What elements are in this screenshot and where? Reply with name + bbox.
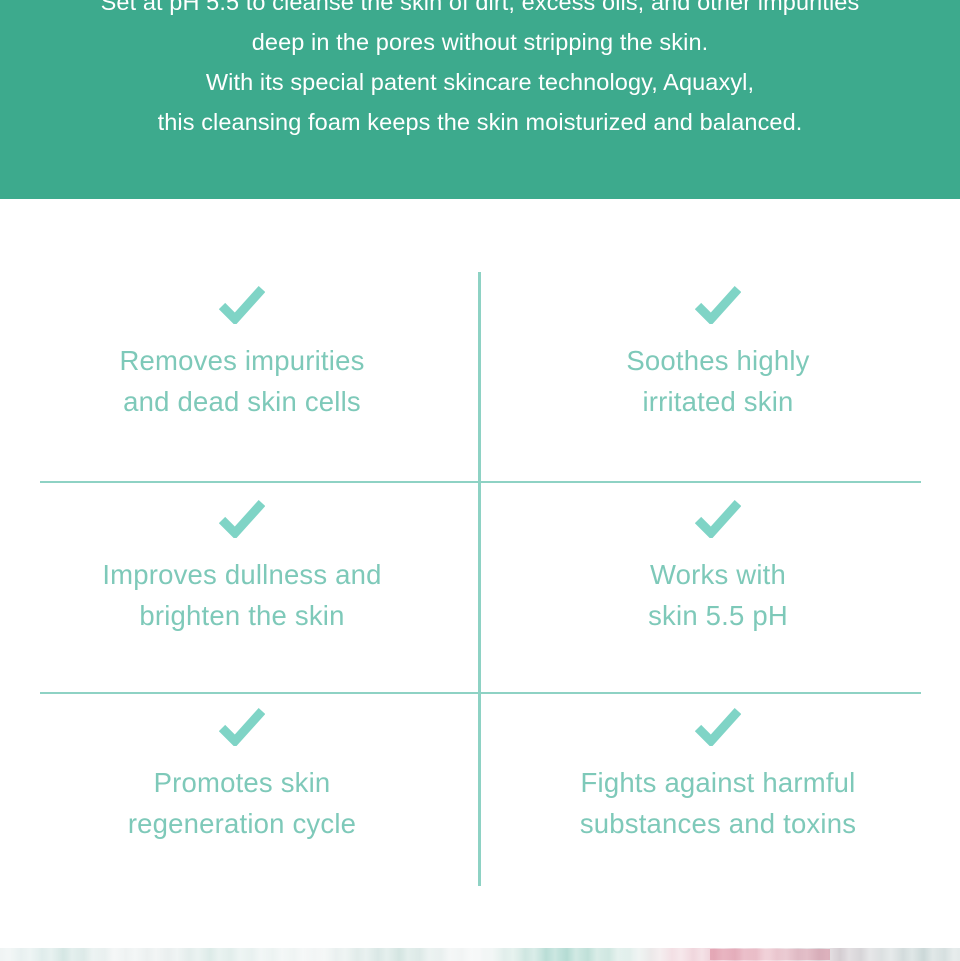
benefit-cell-soothes-irritated-skin: Soothes highly irritated skin <box>498 284 938 422</box>
benefit-label: Soothes highly irritated skin <box>498 340 938 422</box>
benefit-cell-improves-dullness: Improves dullness and brighten the skin <box>22 498 462 636</box>
benefit-label: Works with skin 5.5 pH <box>498 554 938 636</box>
check-icon <box>219 498 265 538</box>
grid-horizontal-divider-2 <box>40 692 921 694</box>
benefit-cell-works-with-ph: Works with skin 5.5 pH <box>498 498 938 636</box>
benefits-grid: Removes impurities and dead skin cells S… <box>0 199 960 930</box>
check-icon <box>219 284 265 324</box>
intro-line-2: deep in the pores without stripping the … <box>0 22 960 62</box>
check-icon <box>695 284 741 324</box>
benefit-label: Fights against harmful substances and to… <box>498 762 938 844</box>
bottom-photo-strip <box>0 930 960 961</box>
benefit-cell-promotes-regeneration: Promotes skin regeneration cycle <box>22 706 462 844</box>
grid-vertical-divider <box>478 272 481 886</box>
check-icon <box>695 498 741 538</box>
benefit-label: Improves dullness and brighten the skin <box>22 554 462 636</box>
benefit-label: Promotes skin regeneration cycle <box>22 762 462 844</box>
check-icon <box>219 706 265 746</box>
photo-strip-script-text <box>710 949 830 960</box>
benefit-cell-fights-toxins: Fights against harmful substances and to… <box>498 706 938 844</box>
product-benefits-page: Set at pH 5.5 to cleanse the skin of dir… <box>0 0 960 961</box>
grid-horizontal-divider-1 <box>40 481 921 483</box>
benefit-label: Removes impurities and dead skin cells <box>22 340 462 422</box>
intro-line-1: Set at pH 5.5 to cleanse the skin of dir… <box>0 0 960 22</box>
intro-banner: Set at pH 5.5 to cleanse the skin of dir… <box>0 0 960 199</box>
intro-text-block: Set at pH 5.5 to cleanse the skin of dir… <box>0 0 960 142</box>
intro-line-3: With its special patent skincare technol… <box>0 62 960 102</box>
benefits-section: Removes impurities and dead skin cells S… <box>0 199 960 930</box>
intro-line-4: this cleansing foam keeps the skin moist… <box>0 102 960 142</box>
benefit-cell-removes-impurities: Removes impurities and dead skin cells <box>22 284 462 422</box>
check-icon <box>695 706 741 746</box>
